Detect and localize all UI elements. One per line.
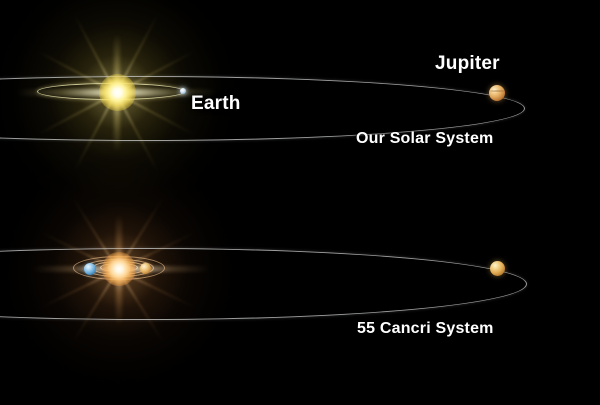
sun-ray-icon: [115, 93, 158, 172]
cancri-star-ray-icon: [73, 269, 119, 341]
cancri-star-ray-icon: [42, 232, 118, 271]
cancri-inner-orange-planet-icon: [140, 263, 151, 274]
cancri-star-ray-icon: [117, 269, 163, 341]
sun-ray-icon: [74, 15, 117, 94]
sun-ray-icon: [116, 51, 195, 94]
cancri-lens-flare-vertical: [116, 214, 122, 326]
sun-lens-flare-vertical: [114, 34, 120, 152]
cancri-lens-flare-horizontal: [32, 266, 210, 272]
cancri-star-ray-icon: [117, 198, 163, 270]
cancri-inner-orbit-f: [84, 259, 154, 277]
cancri-star-ray-icon: [42, 269, 118, 308]
sun-lens-flare-horizontal: [17, 89, 217, 96]
earth-label: Earth: [191, 93, 241, 115]
cancri-outer-orbit-ellipse: [0, 248, 527, 320]
cancri-inner-orbit-d: [73, 256, 165, 280]
cancri-star-ray-icon: [73, 198, 119, 270]
earth-planet-icon: [180, 88, 186, 94]
cancri-inner-orbit-b: [100, 263, 138, 272]
cancri-star-glow-halo: [0, 148, 242, 392]
cancri-star-ray-icon: [118, 269, 194, 308]
cancri-star-icon: [102, 252, 136, 286]
cancri-star-ray-icon: [118, 232, 194, 271]
sun-ray-icon: [38, 92, 117, 135]
sun-ray-icon: [115, 15, 158, 94]
jupiter-planet-icon: [489, 85, 505, 101]
jupiter-orbit-ellipse: [0, 76, 525, 141]
solar-system-panel: Jupiter Earth Our Solar System: [0, 0, 600, 190]
solar-system-comparison-image: Jupiter Earth Our Solar System 55 Cancri…: [0, 0, 600, 405]
sun-glow-halo: [0, 0, 237, 212]
earth-orbit-ellipse: [37, 83, 185, 100]
cancri-inner-blue-planet-icon: [84, 263, 96, 275]
cancri-system-panel: 55 Cancri System: [0, 0, 600, 405]
jupiter-label: Jupiter: [435, 53, 500, 75]
sun-icon: [99, 74, 136, 111]
sun-ray-icon: [38, 51, 117, 94]
cancri-system-caption: 55 Cancri System: [357, 320, 494, 338]
sun-ray-icon: [116, 92, 195, 135]
cancri-outer-planet-icon: [490, 261, 505, 276]
cancri-inner-orbit-c: [92, 261, 146, 275]
our-solar-system-caption: Our Solar System: [356, 130, 493, 148]
cancri-inner-orbit-e: [108, 265, 130, 270]
sun-ray-icon: [74, 93, 117, 172]
